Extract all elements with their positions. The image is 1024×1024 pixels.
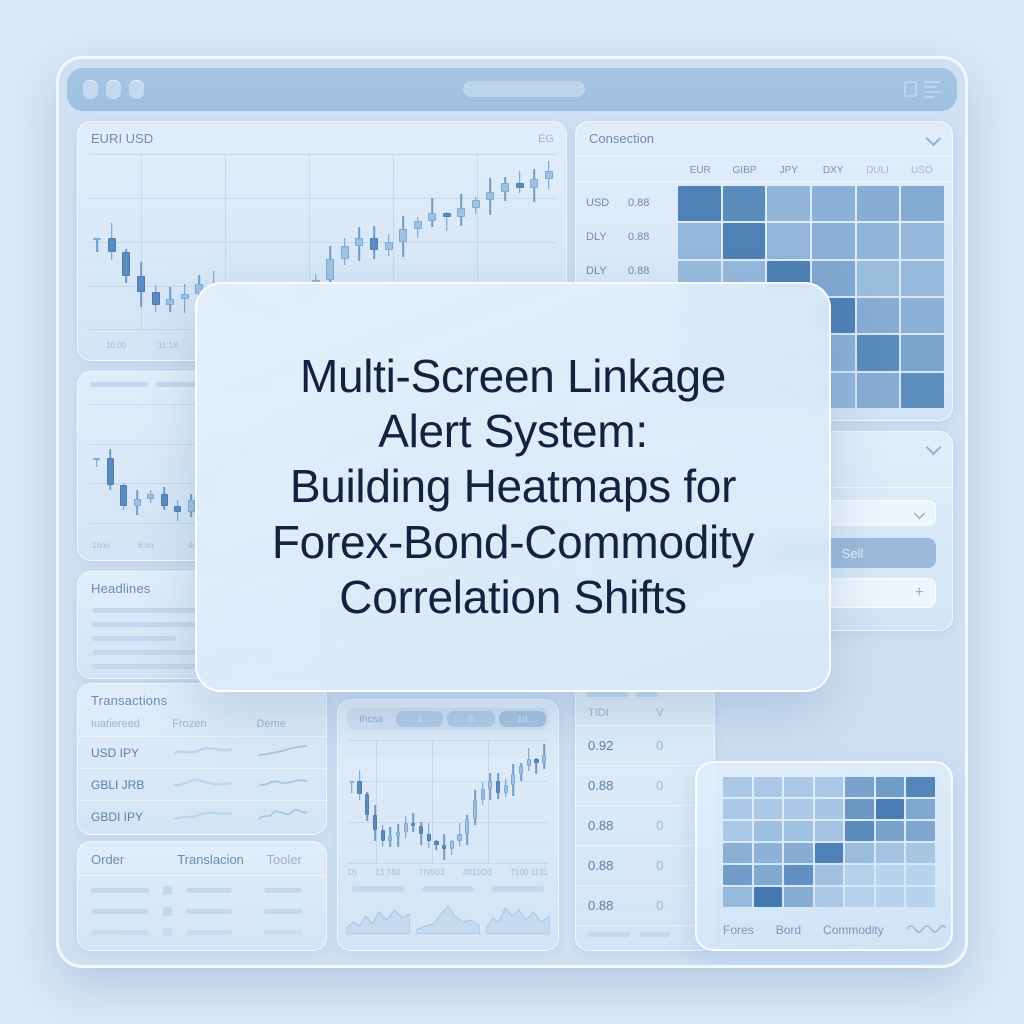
heatmap-cell[interactable] [784, 887, 813, 907]
candlestick [496, 740, 500, 864]
minimize-dot[interactable] [106, 80, 121, 99]
heatmap-cell[interactable] [845, 887, 874, 907]
transactions-col-0: Iuatiereed [78, 718, 172, 730]
table-row[interactable]: DLY 0.88 [576, 220, 678, 254]
correlation-row-labels: USD 0.88 DLY 0.88 DLY 0.88 [576, 186, 678, 288]
heatmap-cell[interactable] [723, 223, 766, 258]
heatmap-cell[interactable] [767, 223, 810, 258]
chevron-down-icon[interactable] [927, 132, 940, 145]
sparkline-icon [257, 807, 326, 826]
candlestick [427, 740, 431, 864]
sparkline-icon [172, 775, 256, 794]
panel-icon[interactable] [904, 81, 917, 97]
candlestick [188, 404, 195, 524]
heatmap-cell[interactable] [876, 887, 905, 907]
table-row[interactable]: 0.880 [576, 846, 714, 886]
heatmap-cell[interactable] [754, 799, 783, 819]
candlestick [93, 404, 100, 524]
transaction-pair: GBDI IPY [78, 810, 172, 824]
heatmap-cell[interactable] [857, 335, 900, 370]
heatmap-cell[interactable] [784, 777, 813, 797]
legend-item-commodity: Commodity [823, 923, 884, 937]
heatmap-cell[interactable] [901, 373, 944, 408]
xtick-0: D) [348, 868, 356, 877]
mini-charts-row [346, 886, 550, 939]
window-titlebar [67, 67, 957, 111]
titlebar-icons [904, 81, 941, 98]
sparkline-icon [172, 807, 256, 826]
tab-1[interactable]: 5 [447, 711, 494, 727]
close-dot[interactable] [83, 80, 98, 99]
candlestick [404, 740, 408, 864]
candles-tab-xaxis: D) 13.T80 7IV603 4010O3 T100 1131 [348, 868, 548, 877]
heatmap-cell[interactable] [754, 821, 783, 841]
candlestick [411, 740, 415, 864]
heatmap-cell[interactable] [815, 865, 844, 885]
heatmap-cell[interactable] [906, 865, 935, 885]
heatmap-cell[interactable] [815, 777, 844, 797]
heatmap-cell[interactable] [857, 261, 900, 296]
heatmap-cell[interactable] [906, 777, 935, 797]
heatmap-cell[interactable] [845, 865, 874, 885]
value-cell-secondary: 0 [656, 738, 714, 753]
traffic-light-dots [83, 80, 144, 99]
transactions-col-1: Frozen [172, 718, 256, 730]
candlestick [434, 740, 438, 864]
heatmap-cell[interactable] [906, 887, 935, 907]
heatmap-cell[interactable] [845, 843, 874, 863]
candles-tab-plot[interactable] [348, 740, 548, 864]
heatmap-cell[interactable] [678, 223, 721, 258]
candlestick [120, 404, 127, 524]
candlestick [388, 740, 392, 864]
candlestick [93, 154, 101, 330]
page-title: Multi-Screen Linkage Alert System: Build… [246, 349, 780, 625]
transaction-pair: GBLI JRB [78, 778, 172, 792]
heatmap-cell[interactable] [723, 186, 766, 221]
heatmap-cell[interactable] [723, 865, 752, 885]
correlation-col-4: DULI [855, 157, 899, 183]
transactions-col-2: Deme [257, 718, 326, 730]
overlay-title-card: Multi-Screen Linkage Alert System: Build… [195, 282, 831, 692]
table-row[interactable]: 0.880 [576, 886, 714, 926]
candlestick [365, 740, 369, 864]
candlestick [108, 154, 116, 330]
xtick-4: T100 1131 [510, 868, 548, 877]
xtick-1: 13.T80 [375, 868, 400, 877]
heatmap-cell[interactable] [906, 843, 935, 863]
candlestick [519, 740, 523, 864]
candlestick [147, 404, 154, 524]
wave-icon [906, 922, 946, 937]
secondary-xtick-1: 6:oo [138, 541, 154, 550]
values-table-panel: TIDI V 0.9200.8800.8800.8800.880 [575, 683, 715, 951]
heatmap-cell[interactable] [784, 843, 813, 863]
headline-skeleton [92, 636, 176, 641]
heatmap-cell[interactable] [754, 865, 783, 885]
correlation-col-2: JPY [767, 157, 811, 183]
menu-icon[interactable] [924, 81, 941, 98]
secondary-xtick-0: 1hoo [92, 541, 110, 550]
heatmap-cell[interactable] [754, 887, 783, 907]
candles-tabbar-wrap: Ihcsa 1 5 1d [338, 700, 558, 730]
order-col-2: Tooler [266, 852, 326, 867]
table-row[interactable]: 0.880 [576, 766, 714, 806]
price-chart-badge: EG [538, 133, 554, 145]
correlation-row-value: 0.88 [628, 265, 678, 277]
heatmap-cell[interactable] [678, 186, 721, 221]
heatmap-cell[interactable] [812, 186, 855, 221]
transactions-panel: Transactions Iuatiereed Frozen Deme USD … [77, 683, 327, 835]
candlestick [137, 154, 145, 330]
heatmap-cell[interactable] [857, 223, 900, 258]
heatmap-cell[interactable] [857, 186, 900, 221]
heatmap-cell[interactable] [857, 298, 900, 333]
maximize-dot[interactable] [129, 80, 144, 99]
heatmap-cell[interactable] [857, 373, 900, 408]
legend-item-bond: Bord [776, 923, 801, 937]
candlestick [166, 154, 174, 330]
heatmap-cell[interactable] [901, 223, 944, 258]
heatmap-cell[interactable] [812, 223, 855, 258]
correlation-col-0: EUR [678, 157, 722, 183]
correlation-row-label: DLY [576, 265, 628, 277]
heatmap-cell[interactable] [723, 843, 752, 863]
heatmap-cell[interactable] [876, 777, 905, 797]
candlestick [122, 154, 130, 330]
heatmap-cell[interactable] [876, 865, 905, 885]
heatmap-cell[interactable] [815, 799, 844, 819]
candlestick [442, 740, 446, 864]
heatmap-cell[interactable] [815, 821, 844, 841]
candlestick [357, 740, 361, 864]
heatmap-cell[interactable] [723, 887, 752, 907]
candlestick [161, 404, 168, 524]
value-cell: 0.88 [576, 778, 656, 793]
heatmap-cell[interactable] [723, 777, 752, 797]
sparkline-icon [257, 743, 326, 762]
correlation-col-1: GIBP [722, 157, 766, 183]
table-row[interactable]: USD 0.88 [576, 186, 678, 220]
sparkline-icon [172, 743, 256, 762]
values-table-footer [576, 926, 714, 943]
order-col-0: Order [78, 852, 177, 867]
heatmap-panel: Fores Bord Commodity [695, 761, 953, 951]
mini-chart[interactable] [346, 886, 410, 939]
transactions-header-row: Iuatiereed Frozen Deme [78, 712, 326, 736]
candlestick [511, 740, 515, 864]
heatmap-cell[interactable] [815, 843, 844, 863]
candlestick [488, 740, 492, 864]
candlestick [542, 740, 546, 864]
price-chart-header: EURI USD EG [78, 122, 566, 151]
candles-tab-panel: Ihcsa 1 5 1d D) 13.T80 7IV603 4010O3 [337, 699, 559, 951]
candlestick [527, 740, 531, 864]
tab-2[interactable]: 1d [499, 711, 546, 727]
candlestick [473, 740, 477, 864]
heatmap-cell[interactable] [876, 843, 905, 863]
heatmap-cell[interactable] [901, 298, 944, 333]
heatmap-cell[interactable] [906, 821, 935, 841]
heatmap-cell[interactable] [754, 843, 783, 863]
legend-item-forex: Fores [723, 923, 754, 937]
candlestick [174, 404, 181, 524]
table-row[interactable]: 0.920 [576, 726, 714, 766]
heatmap-legend: Fores Bord Commodity [723, 922, 939, 937]
price-chart-xtick-1: 11:1X [158, 341, 178, 350]
heatmap-cell[interactable] [901, 335, 944, 370]
candlestick [181, 154, 189, 330]
values-col-0: TIDI [576, 707, 656, 719]
heatmap-cell[interactable] [784, 799, 813, 819]
sparkline-icon [257, 775, 326, 794]
tabbar-label: Ihcsa [350, 714, 392, 725]
heatmap-cell[interactable] [901, 186, 944, 221]
order-list-header-row: Order Translacion Tooler [78, 842, 326, 875]
order-col-1: Translacion [177, 852, 266, 867]
heatmap-cell[interactable] [767, 186, 810, 221]
candlestick [381, 740, 385, 864]
table-row[interactable]: GBDI IPY [78, 800, 326, 832]
values-table-rows: 0.9200.8800.8800.8800.880 [576, 726, 714, 926]
correlation-header: Consection [576, 122, 952, 151]
candlestick [152, 154, 160, 330]
heatmap-cell[interactable] [901, 261, 944, 296]
price-chart-symbol: EURI USD [91, 131, 153, 146]
heatmap-cell[interactable] [845, 821, 874, 841]
value-cell: 0.88 [576, 818, 656, 833]
heatmap-cell[interactable] [784, 865, 813, 885]
price-chart-xtick-0: 10:00 [106, 341, 126, 350]
candlestick [465, 740, 469, 864]
correlation-col-3: DXY [811, 157, 855, 183]
candlestick [350, 740, 354, 864]
list-item[interactable] [91, 886, 313, 895]
mini-chart[interactable] [416, 886, 480, 939]
heatmap-cell[interactable] [723, 821, 752, 841]
value-cell: 0.88 [576, 858, 656, 873]
correlation-shift-heatmap[interactable] [723, 777, 935, 907]
values-table-header-row: TIDI V [576, 701, 714, 726]
correlation-col-header-row: EUR GIBP JPY DXY DULI USO [576, 156, 952, 182]
correlation-row-label: DLY [576, 231, 628, 243]
xtick-3: 4010O3 [463, 868, 491, 877]
transaction-pair: USD IPY [78, 746, 172, 760]
table-row[interactable]: GBLI JRB [78, 768, 326, 800]
heatmap-cell[interactable] [754, 777, 783, 797]
order-list-panel: Order Translacion Tooler [77, 841, 327, 951]
table-row[interactable]: USD IPY [78, 736, 326, 768]
heatmap-cell[interactable] [906, 799, 935, 819]
value-cell: 0.88 [576, 898, 656, 913]
heatmap-cell[interactable] [876, 821, 905, 841]
candlestick [134, 404, 141, 524]
correlation-row-value: 0.88 [628, 231, 678, 243]
mini-chart[interactable] [486, 886, 550, 939]
order-list-rows [78, 876, 326, 947]
toolbar-skeleton [90, 382, 148, 387]
candlestick [457, 740, 461, 864]
list-item[interactable] [91, 907, 313, 916]
candlestick [419, 740, 423, 864]
heatmap-cell[interactable] [876, 799, 905, 819]
table-row[interactable]: 0.880 [576, 806, 714, 846]
plus-button[interactable]: + [915, 584, 924, 602]
tab-0[interactable]: 1 [396, 711, 443, 727]
search-input[interactable] [463, 81, 585, 97]
candlestick [504, 740, 508, 864]
heatmap-cell[interactable] [845, 799, 874, 819]
correlation-row-value: 0.88 [628, 197, 678, 209]
correlation-title: Consection [589, 131, 654, 146]
correlation-col-5: USO [900, 157, 944, 183]
list-item[interactable] [91, 928, 313, 937]
candlestick [450, 740, 454, 864]
chevron-down-icon [915, 508, 925, 518]
heatmap-cell[interactable] [784, 821, 813, 841]
candlestick [481, 740, 485, 864]
correlation-row-label: USD [576, 197, 628, 209]
heatmap-cell[interactable] [723, 799, 752, 819]
heatmap-cell[interactable] [845, 777, 874, 797]
timeframe-tabbar: Ihcsa 1 5 1d [347, 708, 549, 730]
xtick-2: 7IV603 [419, 868, 444, 877]
values-col-1: V [656, 707, 714, 719]
candlestick [107, 404, 114, 524]
heatmap-cell[interactable] [815, 887, 844, 907]
value-cell: 0.92 [576, 738, 656, 753]
chevron-down-icon[interactable] [927, 441, 940, 454]
candlestick [373, 740, 377, 864]
candlestick [396, 740, 400, 864]
candlestick [534, 740, 538, 864]
